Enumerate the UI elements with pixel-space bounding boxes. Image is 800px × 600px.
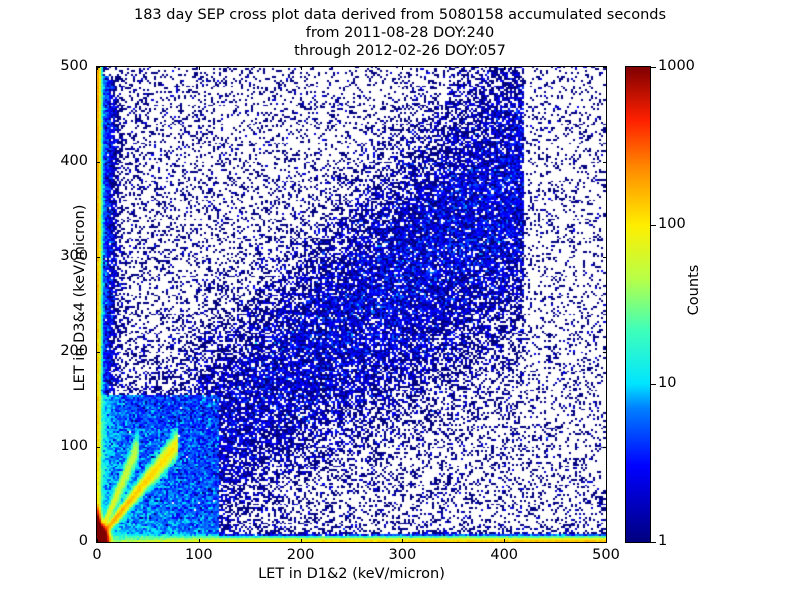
let-cross-plot-heatmap [97,67,606,542]
figure-canvas: 183 day SEP cross plot data derived from… [0,0,800,600]
colorbar-label-1000: 1000 [658,58,695,74]
plot-area [96,66,607,543]
colorbar-tick-100 [651,225,656,226]
y-tick-100 [96,447,100,448]
colorbar-tick-1 [651,542,656,543]
x-tick-top-300 [402,66,403,70]
y-tick-right-200 [603,352,607,353]
x-tick-200 [301,539,302,543]
x-tick-100 [199,539,200,543]
x-tick-top-400 [504,66,505,70]
y-tick-400 [96,162,100,163]
x-tick-label-100: 100 [159,547,239,563]
colorbar-title: Counts [686,200,702,380]
x-tick-top-100 [199,66,200,70]
colorbar [625,66,651,543]
x-axis-title: LET in D1&2 (keV/micron) [96,566,607,582]
y-tick-500 [96,67,100,68]
x-tick-label-400: 400 [464,547,544,563]
y-tick-right-500 [603,67,607,68]
colorbar-tick-1000 [651,67,656,68]
y-tick-0 [96,542,100,543]
colorbar-label-1: 1 [658,533,667,549]
y-tick-right-100 [603,447,607,448]
y-tick-right-0 [603,542,607,543]
x-tick-label-300: 300 [362,547,442,563]
y-tick-200 [96,352,100,353]
figure-title: 183 day SEP cross plot data derived from… [0,6,800,60]
colorbar-gradient [626,67,650,542]
colorbar-label-10: 10 [658,375,676,391]
y-axis-title: LET in D3&4 (keV/micron) [72,58,88,538]
y-tick-right-400 [603,162,607,163]
colorbar-tick-10 [651,384,656,385]
x-tick-300 [402,539,403,543]
y-tick-right-300 [603,257,607,258]
heatmap-layer [97,67,606,542]
colorbar-label-100: 100 [658,216,686,232]
x-tick-top-200 [301,66,302,70]
y-tick-300 [96,257,100,258]
x-tick-label-200: 200 [261,547,341,563]
x-tick-label-0: 0 [57,547,137,563]
title-line-2: from 2011-08-28 DOY:240 [0,24,800,42]
x-tick-400 [504,539,505,543]
x-tick-label-500: 500 [566,547,646,563]
title-line-1: 183 day SEP cross plot data derived from… [0,6,800,24]
